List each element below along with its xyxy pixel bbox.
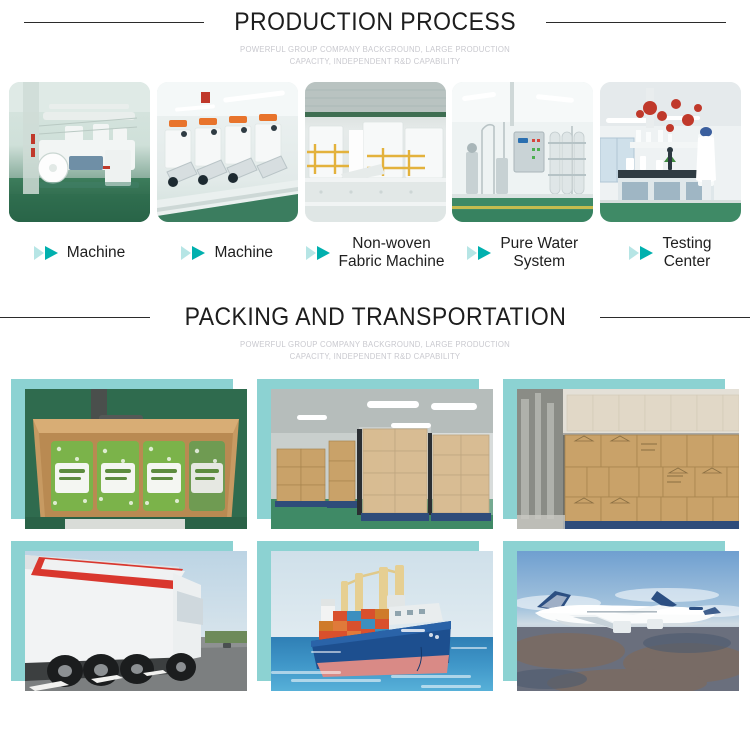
production-section-subtitle: POWERFUL GROUP COMPANY BACKGROUND, LARGE…	[11, 44, 739, 68]
packing-photo-row	[11, 379, 739, 529]
wet-wipes-packing-machine-line-photo	[157, 82, 298, 222]
laboratory-testing-center-photo	[600, 82, 741, 222]
packing-subtitle-line-1: POWERFUL GROUP COMPANY BACKGROUND, LARGE…	[11, 339, 739, 351]
process-caption-label: Machine	[67, 244, 126, 262]
header-rule-right	[600, 317, 750, 318]
pure-water-ro-system-photo	[452, 82, 593, 222]
production-subtitle-line-2: CAPACITY, INDEPENDENT R&D CAPABILITY	[11, 56, 739, 68]
process-caption-label: Non-woven Fabric Machine	[339, 235, 445, 271]
process-caption-label: Testing Center	[662, 235, 711, 271]
production-title-row: PRODUCTION PROCESS	[0, 8, 750, 37]
non-woven-fabric-machine-photo	[305, 82, 446, 222]
fast-forward-icon	[467, 245, 493, 261]
packing-photo-row	[11, 541, 739, 691]
packing-title-row: PACKING AND TRANSPORTATION	[0, 303, 750, 332]
packing-subtitle-line-2: CAPACITY, INDEPENDENT R&D CAPABILITY	[11, 351, 739, 363]
carton-of-green-wet-wipe-packs-photo	[25, 389, 247, 529]
packing-photo-cell[interactable]	[257, 379, 493, 529]
process-caption: Machine	[9, 233, 150, 273]
fast-forward-icon	[629, 245, 655, 261]
packing-section-subtitle: POWERFUL GROUP COMPANY BACKGROUND, LARGE…	[11, 339, 739, 363]
production-process-section-header: PRODUCTION PROCESS POWERFUL GROUP COMPAN…	[0, 0, 750, 68]
packing-photo-cell[interactable]	[11, 541, 247, 691]
packing-transportation-section-header: PACKING AND TRANSPORTATION POWERFUL GROU…	[0, 303, 750, 363]
process-card[interactable]: Testing Center	[600, 82, 741, 273]
header-rule-left	[24, 22, 204, 23]
truck-on-highway-photo	[25, 551, 247, 691]
process-caption-label: Pure Water System	[500, 235, 578, 271]
fast-forward-icon	[306, 245, 332, 261]
packing-photo-cell[interactable]	[257, 541, 493, 691]
process-caption-label: Machine	[214, 244, 273, 262]
process-card[interactable]: Machine	[157, 82, 298, 273]
process-caption: Pure Water System	[452, 233, 593, 273]
fast-forward-icon	[181, 245, 207, 261]
header-rule-right	[546, 22, 726, 23]
cargo-airplane-in-flight-photo	[517, 551, 739, 691]
process-caption: Testing Center	[600, 233, 741, 273]
packing-photo-cell[interactable]	[503, 379, 739, 529]
packing-section-title: PACKING AND TRANSPORTATION	[184, 303, 566, 332]
process-card[interactable]: Pure Water System	[452, 82, 593, 273]
production-process-items: Machine	[0, 82, 750, 273]
packing-photo-cell[interactable]	[503, 541, 739, 691]
container-cargo-ship-photo	[271, 551, 493, 691]
spunlace-machine-line-photo	[9, 82, 150, 222]
fast-forward-icon	[34, 245, 60, 261]
warehouse-stacked-cartons-photo	[271, 389, 493, 529]
process-card[interactable]: Machine	[9, 82, 150, 273]
process-card[interactable]: Non-woven Fabric Machine	[305, 82, 446, 273]
process-caption: Machine	[157, 233, 298, 273]
packing-photo-cell[interactable]	[11, 379, 247, 529]
production-subtitle-line-1: POWERFUL GROUP COMPANY BACKGROUND, LARGE…	[11, 44, 739, 56]
wrapped-pallet-of-cartons-photo	[517, 389, 739, 529]
production-section-title: PRODUCTION PROCESS	[234, 8, 516, 37]
header-rule-left	[0, 317, 150, 318]
packing-photo-grid	[0, 379, 750, 691]
process-caption: Non-woven Fabric Machine	[305, 233, 446, 273]
